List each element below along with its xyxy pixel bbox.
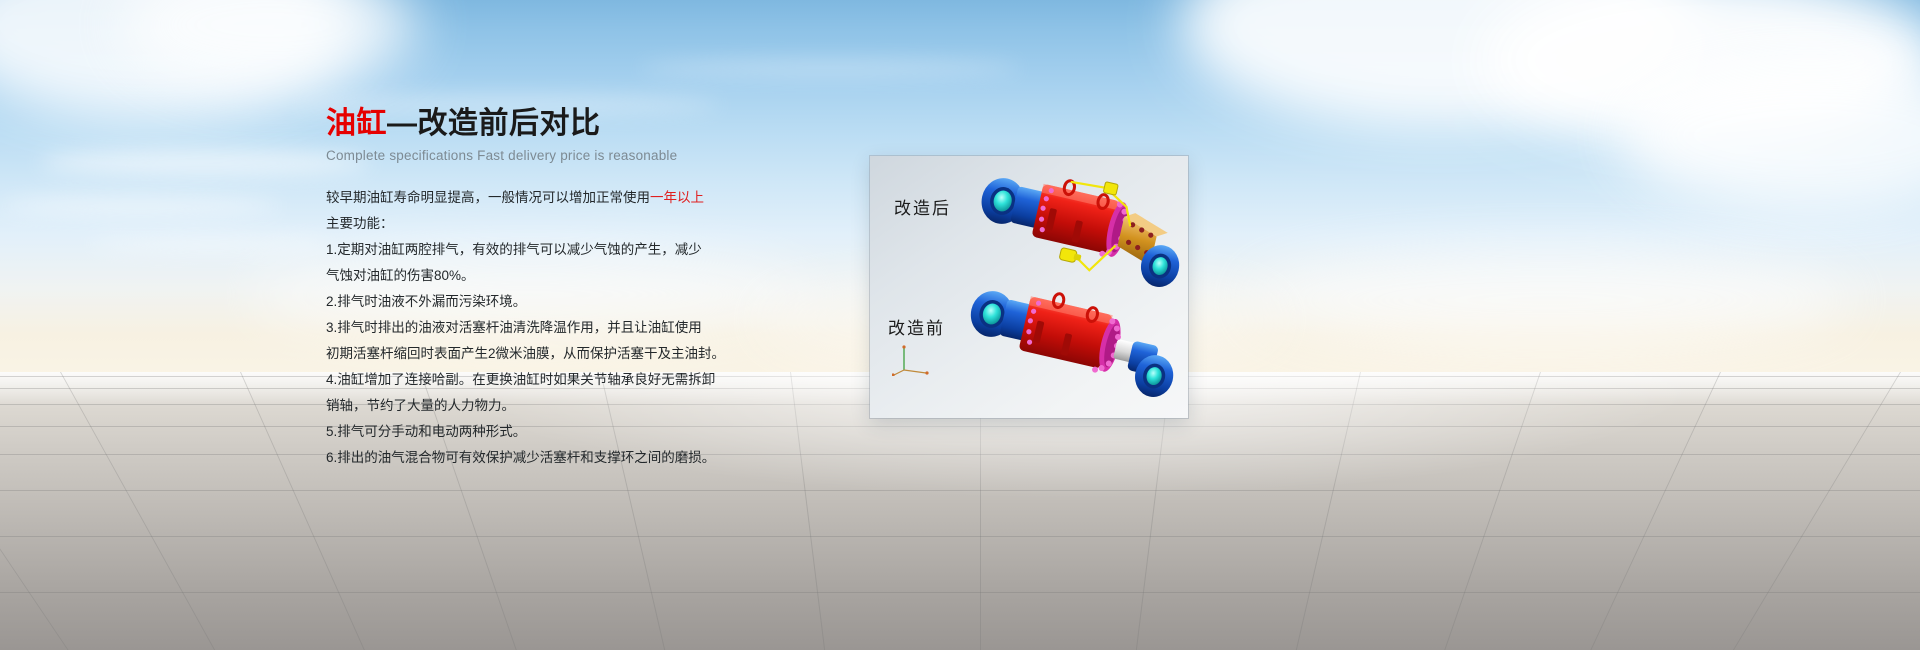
- feature-line: 气蚀对油缸的伤害80%。: [326, 263, 886, 289]
- cloud-shape: [640, 60, 1020, 76]
- promo-banner: 油缸—改造前后对比 Complete specifications Fast d…: [0, 0, 1920, 650]
- intro-highlight: 一年以上: [650, 190, 704, 205]
- intro-text: 较早期油缸寿命明显提高，一般情况可以增加正常使用: [326, 190, 650, 205]
- feature-line: 6.排出的油气混合物可有效保护减少活塞杆和支撑环之间的磨损。: [326, 445, 886, 471]
- feature-line: 5.排气可分手动和电动两种形式。: [326, 419, 886, 445]
- banner-copy: 油缸—改造前后对比 Complete specifications Fast d…: [326, 106, 886, 471]
- feature-line: 1.定期对油缸两腔排气，有效的排气可以减少气蚀的产生，减少: [326, 237, 886, 263]
- label-before-modification: 改造前: [888, 314, 945, 339]
- axis-triad-icon: [892, 342, 932, 376]
- cloud-shape: [1250, 250, 1850, 350]
- cloud-shape: [0, 196, 280, 216]
- title-highlight: 油缸: [326, 107, 387, 140]
- cylinder-after-illustration: [970, 170, 1180, 290]
- cylinder-before-illustration: [958, 284, 1178, 414]
- feature-line: 销轴，节约了大量的人力物力。: [326, 393, 886, 419]
- features-heading: 主要功能：: [326, 211, 886, 237]
- feature-line: 2.排气时油液不外漏而污染环境。: [326, 289, 886, 315]
- feature-line: 初期活塞杆缩回时表面产生2微米油膜，从而保护活塞干及主油封。: [326, 341, 886, 367]
- cloud-shape: [40, 150, 370, 176]
- intro-line: 较早期油缸寿命明显提高，一般情况可以增加正常使用一年以上: [326, 185, 886, 211]
- feature-line: 3.排气时排出的油液对活塞杆油清洗降温作用，并且让油缸使用: [326, 315, 886, 341]
- page-subtitle: Complete specifications Fast delivery pr…: [326, 148, 886, 163]
- product-comparison-panel: 改造后 改造前: [870, 156, 1188, 418]
- feature-line: 4.油缸增加了连接哈副。在更换油缸时如果关节轴承良好无需拆卸: [326, 367, 886, 393]
- feature-list: 较早期油缸寿命明显提高，一般情况可以增加正常使用一年以上 主要功能： 1.定期对…: [326, 185, 886, 471]
- label-after-modification: 改造后: [894, 194, 951, 219]
- page-title: 油缸—改造前后对比: [326, 106, 886, 142]
- title-rest: —改造前后对比: [387, 107, 601, 140]
- cloud-shape: [90, 236, 330, 252]
